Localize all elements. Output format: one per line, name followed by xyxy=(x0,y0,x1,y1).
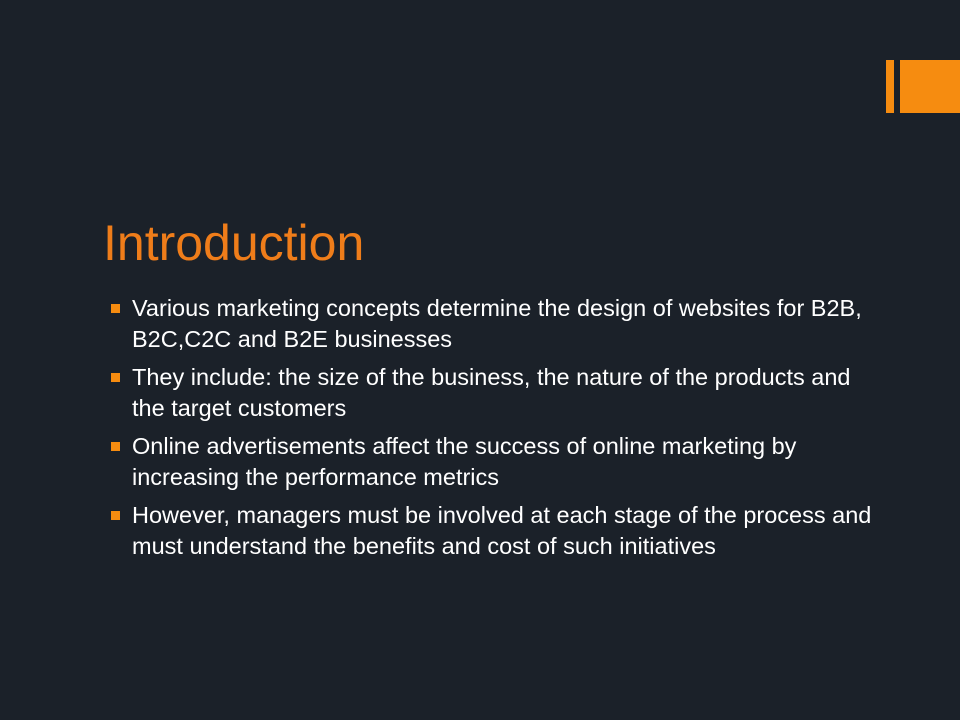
list-item-text: Online advertisements affect the success… xyxy=(132,431,878,492)
list-item: They include: the size of the business, … xyxy=(108,362,878,423)
list-item-text: They include: the size of the business, … xyxy=(132,362,878,423)
square-bullet-icon xyxy=(111,304,120,313)
square-bullet-icon xyxy=(111,373,120,382)
bullet-list: Various marketing concepts determine the… xyxy=(108,293,878,561)
accent-block-icon xyxy=(900,60,960,113)
square-bullet-icon xyxy=(111,511,120,520)
list-item: However, managers must be involved at ea… xyxy=(108,500,878,561)
list-item-text: Various marketing concepts determine the… xyxy=(132,293,878,354)
list-item: Online advertisements affect the success… xyxy=(108,431,878,492)
corner-decoration xyxy=(886,60,960,113)
accent-bar-icon xyxy=(886,60,894,113)
list-item: Various marketing concepts determine the… xyxy=(108,293,878,354)
slide-title: Introduction xyxy=(103,214,364,273)
square-bullet-icon xyxy=(111,442,120,451)
presentation-slide: Introduction Various marketing concepts … xyxy=(0,0,960,720)
list-item-text: However, managers must be involved at ea… xyxy=(132,500,878,561)
